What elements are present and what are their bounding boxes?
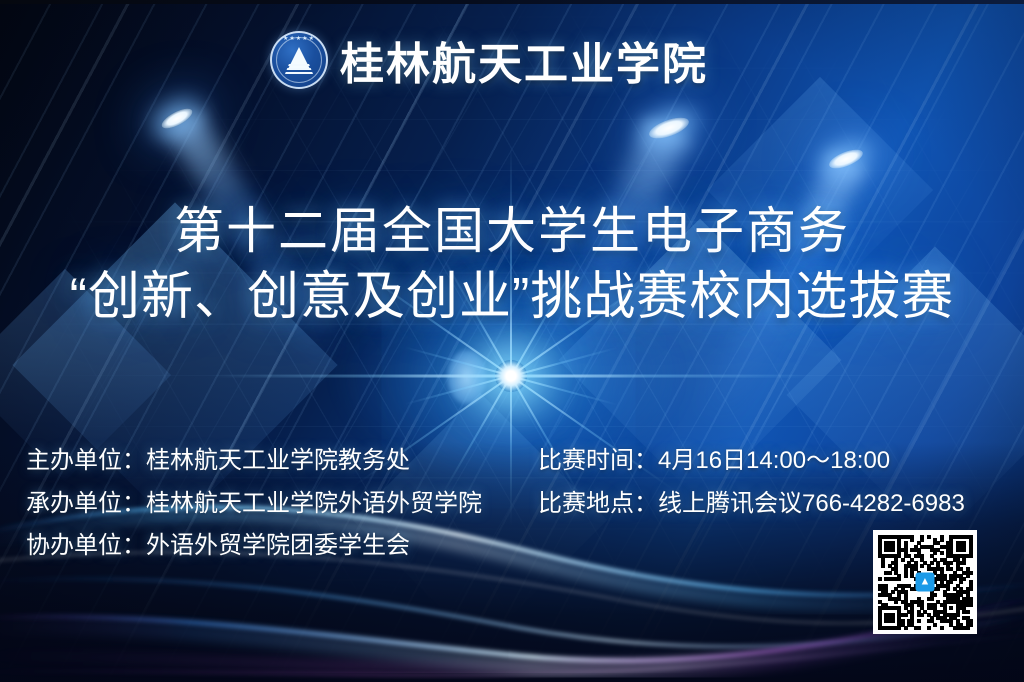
organizer-column: 主办单位：桂林航天工业学院教务处 承办单位：桂林航天工业学院外语外贸学院 协办单… bbox=[26, 440, 538, 568]
tencent-meeting-icon: ▲ bbox=[916, 573, 935, 592]
qr-code-icon[interactable]: ▲ bbox=[873, 530, 977, 634]
organizer-host: 主办单位：桂林航天工业学院教务处 bbox=[26, 440, 538, 483]
organizer-undertaker: 承办单位：桂林航天工业学院外语外贸学院 bbox=[26, 483, 538, 526]
brand-header: ★★★★★ 桂林航天工业学院 bbox=[270, 28, 708, 92]
info-block: 主办单位：桂林航天工业学院教务处 承办单位：桂林航天工业学院外语外贸学院 协办单… bbox=[26, 440, 965, 568]
event-time: 比赛时间：4月16日14:00～18:00 bbox=[538, 440, 965, 483]
title-line-1: 第十二届全国大学生电子商务 bbox=[0, 200, 1024, 263]
top-edge-strip bbox=[0, 0, 1024, 4]
poster-canvas: ★★★★★ 桂林航天工业学院 第十二届全国大学生电子商务 “创新、创意及创业”挑… bbox=[0, 0, 1024, 682]
university-emblem-icon: ★★★★★ bbox=[270, 31, 328, 89]
page-title: 第十二届全国大学生电子商务 “创新、创意及创业”挑战赛校内选拔赛 bbox=[0, 200, 1024, 332]
tencent-meeting-glyph: ▲ bbox=[920, 577, 931, 588]
university-name: 桂林航天工业学院 bbox=[340, 28, 708, 92]
title-line-2: “创新、创意及创业”挑战赛校内选拔赛 bbox=[0, 263, 1024, 332]
poster-content: ★★★★★ 桂林航天工业学院 第十二届全国大学生电子商务 “创新、创意及创业”挑… bbox=[0, 0, 1024, 682]
organizer-coorganizer: 协办单位：外语外贸学院团委学生会 bbox=[26, 525, 538, 568]
event-location: 比赛地点：线上腾讯会议766-4282-6983 bbox=[538, 483, 965, 526]
